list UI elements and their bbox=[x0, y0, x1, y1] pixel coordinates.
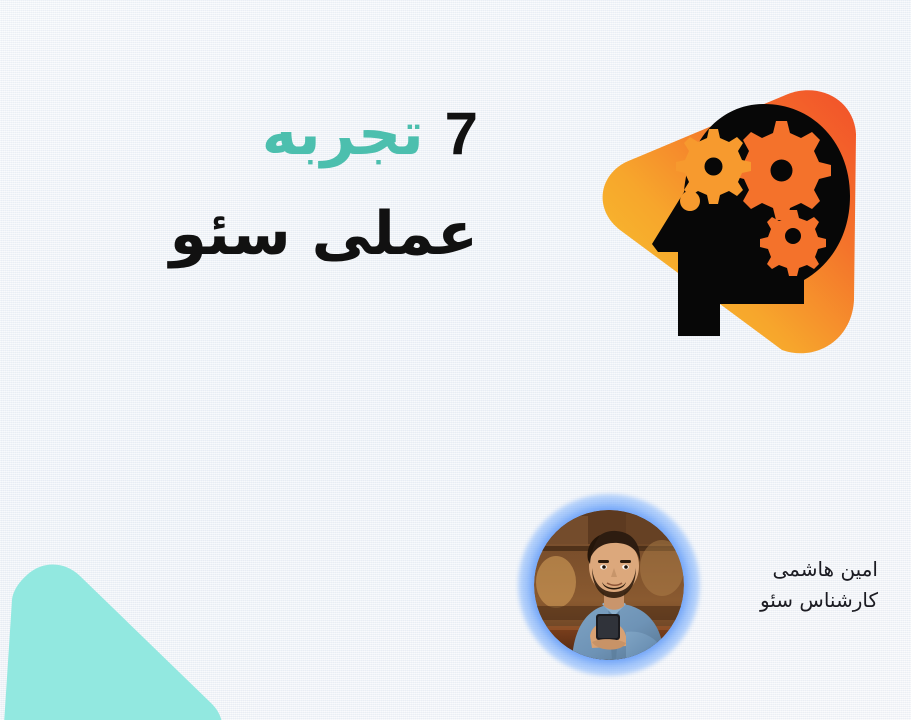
headline-emphasis: تجربه bbox=[262, 99, 424, 169]
presenter-block: امین هاشمی کارشناس سئو bbox=[516, 492, 882, 678]
triangle-decor-icon bbox=[0, 556, 240, 720]
avatar-photo bbox=[534, 510, 684, 660]
brain-gears-icon bbox=[592, 82, 884, 372]
headline-line-two: عملی سئو bbox=[78, 204, 478, 264]
presentation-slide: 7 تجربه عملی سئو bbox=[0, 0, 911, 720]
headline-count: 7 bbox=[445, 100, 478, 167]
presenter-name: امین هاشمی bbox=[714, 554, 878, 585]
headline-line-one: 7 تجربه bbox=[78, 104, 478, 164]
presenter-text: امین هاشمی کارشناس سئو bbox=[714, 554, 882, 616]
page-title: 7 تجربه عملی سئو bbox=[78, 104, 478, 264]
avatar bbox=[516, 492, 702, 678]
presenter-role: کارشناس سئو bbox=[714, 585, 878, 616]
